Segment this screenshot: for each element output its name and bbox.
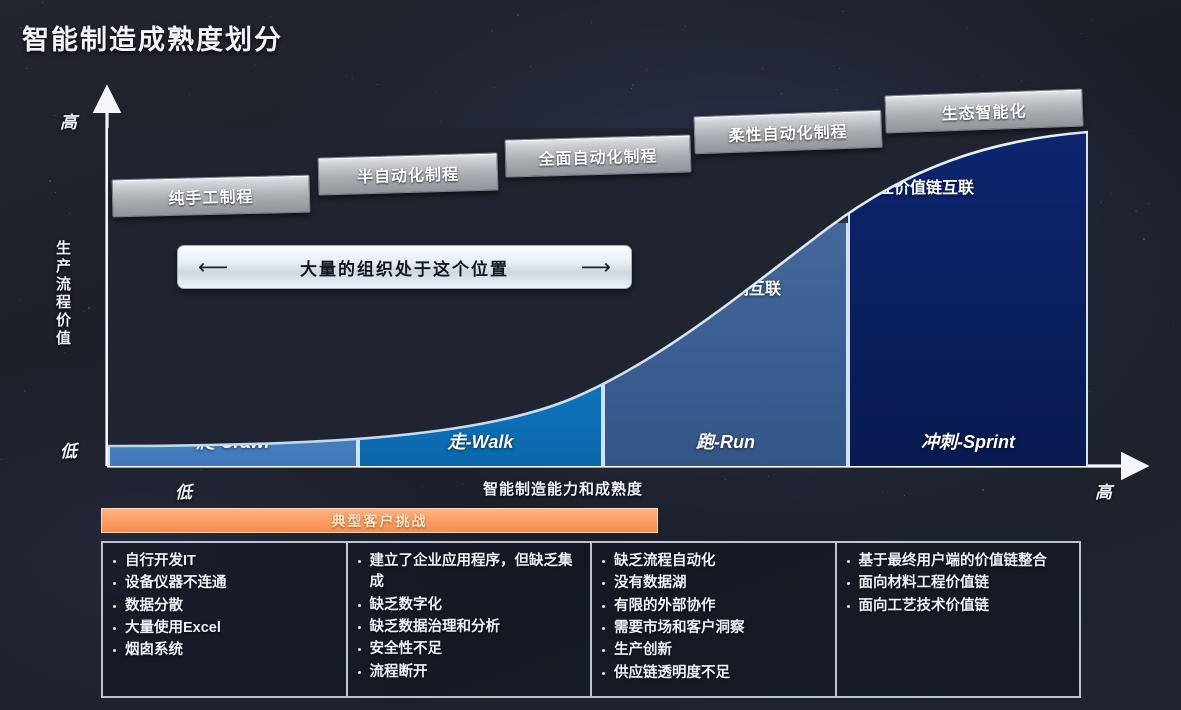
challenges-column-3: 缺乏流程自动化没有数据湖有限的外部协作需要市场和客户洞察生产创新供应链透明度不足 [592,543,837,696]
stair-box-1-label: 纯手工制程 [168,183,254,209]
x-axis-low-label: 低 [175,478,192,503]
y-axis-title: 生产流程价值 [52,240,73,348]
challenge-item: 缺乏数字化 [370,595,581,616]
callout-text: 大量的组织处于这个位置 [228,255,581,280]
challenges-banner: 典型客户挑战 [101,508,658,533]
challenges-column-1: 自行开发IT设备仪器不连通数据分散大量使用Excel烟囱系统 [103,543,348,696]
challenge-item: 生产创新 [614,640,825,661]
stair-box-2-label: 半自动化制程 [357,161,460,188]
challenge-item: 建立了企业应用程序，但缺乏集成 [370,551,581,594]
callout-banner[interactable]: ⟵ 大量的组织处于这个位置 ⟶ [177,245,632,289]
x-axis-high-label: 高 [1095,478,1112,503]
challenges-table: 自行开发IT设备仪器不连通数据分散大量使用Excel烟囱系统 建立了企业应用程序… [101,541,1081,698]
challenge-item: 供应链透明度不足 [614,663,825,684]
challenge-item: 基于最终用户端的价值链整合 [859,551,1070,572]
stair-box-4-label: 柔性自动化制程 [728,118,848,146]
challenge-item: 缺乏数据治理和分析 [370,617,581,638]
stair-box-1[interactable]: 纯手工制程 [112,175,311,218]
challenges-banner-label: 典型客户挑战 [332,511,428,531]
x-axis-title: 智能制造能力和成熟度 [483,478,643,499]
diagram-canvas: 智能制造成熟度划分 高 低 生产流程价值 低 高 智能制造能力和成熟度 Leve… [0,0,1181,710]
challenges-column-2: 建立了企业应用程序，但缺乏集成缺乏数字化缺乏数据治理和分析安全性不足流程断开 [348,543,593,696]
challenge-item: 烟囱系统 [125,640,336,661]
challenge-item: 自行开发IT [125,551,336,572]
page-title: 智能制造成熟度划分 [22,18,283,57]
stair-box-2[interactable]: 半自动化制程 [318,152,499,195]
challenge-item: 没有数据湖 [614,573,825,594]
left-arrow-icon: ⟵ [198,257,228,278]
challenge-item: 设备仪器不连通 [125,573,336,594]
stair-box-4[interactable]: 柔性自动化制程 [693,110,882,155]
challenge-item: 有限的外部协作 [614,596,825,617]
stair-box-5-label: 生态智能化 [941,98,1027,125]
stair-box-3[interactable]: 全面自动化制程 [505,134,692,177]
challenge-item: 数据分散 [125,596,336,617]
challenges-list-3: 缺乏流程自动化没有数据湖有限的外部协作需要市场和客户洞察生产创新供应链透明度不足 [598,551,825,684]
challenge-item: 流程断开 [370,662,581,683]
stair-box-3-label: 全面自动化制程 [538,142,658,169]
challenge-item: 大量使用Excel [125,618,336,639]
challenges-list-4: 基于最终用户端的价值链整合面向材料工程价值链面向工艺技术价值链 [843,551,1070,617]
challenges-column-4: 基于最终用户端的价值链整合面向材料工程价值链面向工艺技术价值链 [837,543,1080,696]
challenge-item: 安全性不足 [370,639,581,660]
challenge-item: 面向材料工程价值链 [859,573,1070,594]
right-arrow-icon: ⟶ [581,257,611,278]
challenges-list-1: 自行开发IT设备仪器不连通数据分散大量使用Excel烟囱系统 [109,551,336,662]
y-axis-high-label: 高 [60,108,77,133]
stair-box-5[interactable]: 生态智能化 [884,89,1083,134]
challenge-item: 缺乏流程自动化 [614,551,825,572]
challenges-list-2: 建立了企业应用程序，但缺乏集成缺乏数字化缺乏数据治理和分析安全性不足流程断开 [354,551,581,683]
challenge-item: 面向工艺技术价值链 [859,596,1070,617]
y-axis-low-label: 低 [60,437,77,462]
challenge-item: 需要市场和客户洞察 [614,618,825,639]
